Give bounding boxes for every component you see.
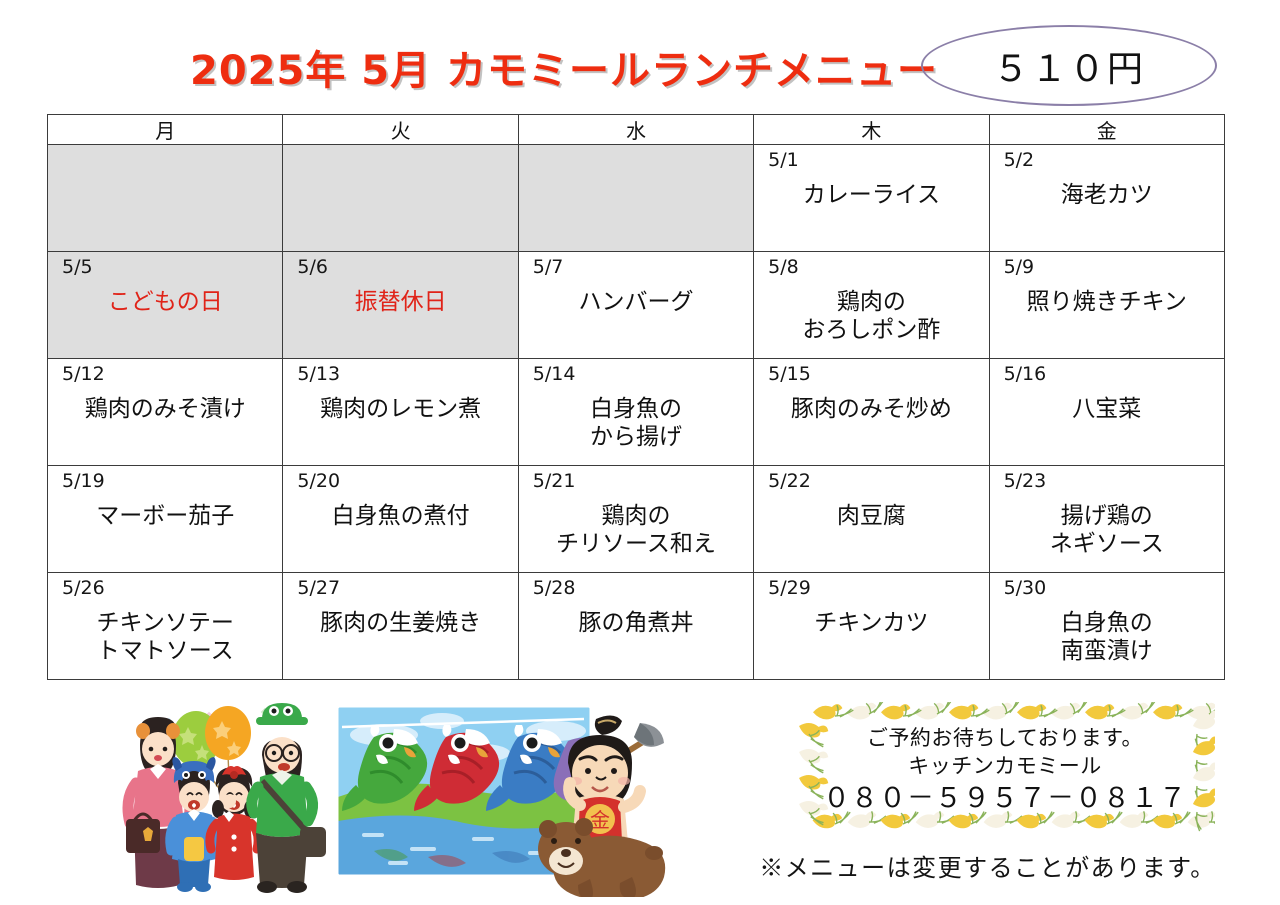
menu-change-disclaimer: ※メニューは変更することがあります。: [740, 848, 1235, 883]
cell-dish-name: マーボー茄子: [48, 492, 282, 530]
cell-date: 5/26: [48, 573, 282, 599]
cell-date: 5/15: [754, 359, 988, 385]
cell-dish-name: 豚の角煮丼: [519, 599, 753, 637]
menu-calendar-table: 月 火 水 木 金 5/1カレーライス5/2海老カツ5/5こどもの日5/6振替休…: [47, 114, 1225, 680]
menu-cell: 5/2海老カツ: [989, 145, 1224, 252]
cell-dish-name: 鶏肉のみそ漬け: [48, 385, 282, 423]
cell-dish-name: 鶏肉の おろしポン酢: [754, 278, 988, 344]
menu-cell: 5/13鶏肉のレモン煮: [283, 359, 518, 466]
cell-dish-name: 鶏肉の チリソース和え: [519, 492, 753, 558]
menu-cell: 5/22肉豆腐: [754, 466, 989, 573]
cell-dish-name: チキンカツ: [754, 599, 988, 637]
cell-dish-name: 豚肉の生姜焼き: [283, 599, 517, 637]
menu-cell-empty: [48, 145, 283, 252]
menu-cell: 5/8鶏肉の おろしポン酢: [754, 252, 989, 359]
menu-cell-empty: [518, 145, 753, 252]
reservation-notice-text: ご予約お待ちしております。 キッチンカモミール ０８０－５９５７－０８１７: [795, 724, 1215, 816]
menu-cell: 5/1カレーライス: [754, 145, 989, 252]
table-row: 5/12鶏肉のみそ漬け5/13鶏肉のレモン煮5/14白身魚の から揚げ5/15豚…: [48, 359, 1225, 466]
weekday-header-thu: 木: [754, 115, 989, 145]
weekday-header-wed: 水: [518, 115, 753, 145]
menu-cell: 5/21鶏肉の チリソース和え: [518, 466, 753, 573]
cell-date: 5/14: [519, 359, 753, 385]
cell-date: 5/21: [519, 466, 753, 492]
menu-cell: 5/15豚肉のみそ炒め: [754, 359, 989, 466]
menu-cell: 5/29チキンカツ: [754, 573, 989, 680]
cell-dish-name: 照り焼きチキン: [990, 278, 1224, 316]
cell-dish-name: チキンソテー トマトソース: [48, 599, 282, 665]
price-badge-label: ５１０円: [993, 40, 1145, 92]
cell-dish-name: 白身魚の から揚げ: [519, 385, 753, 451]
cell-date: 5/5: [48, 252, 282, 278]
weekday-header-fri: 金: [989, 115, 1224, 145]
menu-cell: 5/14白身魚の から揚げ: [518, 359, 753, 466]
cell-date: 5/23: [990, 466, 1224, 492]
cell-date: 5/7: [519, 252, 753, 278]
menu-cell: 5/23揚げ鶏の ネギソース: [989, 466, 1224, 573]
cell-date: 5/6: [283, 252, 517, 278]
page-title: 2025年 5月 カモミールランチメニュー: [190, 38, 850, 96]
cell-dish-name: [283, 150, 517, 160]
cell-date: 5/19: [48, 466, 282, 492]
cell-date: 5/12: [48, 359, 282, 385]
menu-cell: 5/12鶏肉のみそ漬け: [48, 359, 283, 466]
menu-cell: 5/9照り焼きチキン: [989, 252, 1224, 359]
koinobori-illustration: 金: [332, 701, 672, 897]
menu-cell: 5/27豚肉の生姜焼き: [283, 573, 518, 680]
family-illustration: [110, 697, 350, 897]
menu-cell: 5/19マーボー茄子: [48, 466, 283, 573]
cell-date: 5/16: [990, 359, 1224, 385]
notice-line-1: ご予約お待ちしております。: [795, 724, 1215, 752]
weekday-header-tue: 火: [283, 115, 518, 145]
cell-date: 5/1: [754, 145, 988, 171]
menu-cell: 5/30白身魚の 南蛮漬け: [989, 573, 1224, 680]
cell-dish-name: 白身魚の煮付: [283, 492, 517, 530]
cell-holiday-label: こどもの日: [48, 278, 282, 316]
menu-cell: 5/26チキンソテー トマトソース: [48, 573, 283, 680]
menu-cell-empty: [283, 145, 518, 252]
table-row: 5/26チキンソテー トマトソース5/27豚肉の生姜焼き5/28豚の角煮丼5/2…: [48, 573, 1225, 680]
notice-line-2: キッチンカモミール: [795, 752, 1215, 780]
svg-text:金: 金: [590, 808, 610, 832]
notice-phone-number: ０８０－５９５７－０８１７: [795, 781, 1215, 816]
cell-date: 5/20: [283, 466, 517, 492]
cell-date: 5/13: [283, 359, 517, 385]
weekday-header-mon: 月: [48, 115, 283, 145]
menu-cell: 5/20白身魚の煮付: [283, 466, 518, 573]
cell-date: 5/22: [754, 466, 988, 492]
table-row: 5/5こどもの日5/6振替休日5/7ハンバーグ5/8鶏肉の おろしポン酢5/9照…: [48, 252, 1225, 359]
table-header: 月 火 水 木 金: [48, 115, 1225, 145]
cell-dish-name: 鶏肉のレモン煮: [283, 385, 517, 423]
cell-holiday-label: 振替休日: [283, 278, 517, 316]
menu-cell: 5/16八宝菜: [989, 359, 1224, 466]
cell-date: 5/29: [754, 573, 988, 599]
reservation-notice-box: ご予約お待ちしております。 キッチンカモミール ０８０－５９５７－０８１７: [795, 702, 1215, 834]
cell-date: 5/28: [519, 573, 753, 599]
illustration-group: 金: [110, 697, 670, 897]
cell-dish-name: 白身魚の 南蛮漬け: [990, 599, 1224, 665]
menu-page: 2025年 5月 カモミールランチメニュー ５１０円 月 火 水 木 金 5/1…: [0, 0, 1280, 905]
weekday-header-row: 月 火 水 木 金: [48, 115, 1225, 145]
cell-date: 5/30: [990, 573, 1224, 599]
cell-dish-name: [48, 150, 282, 160]
cell-dish-name: 揚げ鶏の ネギソース: [990, 492, 1224, 558]
cell-date: 5/2: [990, 145, 1224, 171]
cell-dish-name: 豚肉のみそ炒め: [754, 385, 988, 423]
cell-dish-name: 八宝菜: [990, 385, 1224, 423]
cell-dish-name: [519, 150, 753, 160]
menu-cell: 5/28豚の角煮丼: [518, 573, 753, 680]
menu-cell: 5/7ハンバーグ: [518, 252, 753, 359]
table-row: 5/1カレーライス5/2海老カツ: [48, 145, 1225, 252]
table-row: 5/19マーボー茄子5/20白身魚の煮付5/21鶏肉の チリソース和え5/22肉…: [48, 466, 1225, 573]
cell-dish-name: カレーライス: [754, 171, 988, 209]
cell-date: 5/27: [283, 573, 517, 599]
cell-dish-name: ハンバーグ: [519, 278, 753, 316]
cell-date: 5/9: [990, 252, 1224, 278]
price-badge: ５１０円: [921, 25, 1217, 106]
menu-cell-holiday: 5/5こどもの日: [48, 252, 283, 359]
cell-dish-name: 肉豆腐: [754, 492, 988, 530]
cell-date: 5/8: [754, 252, 988, 278]
table-body: 5/1カレーライス5/2海老カツ5/5こどもの日5/6振替休日5/7ハンバーグ5…: [48, 145, 1225, 680]
cell-dish-name: 海老カツ: [990, 171, 1224, 209]
menu-cell-holiday: 5/6振替休日: [283, 252, 518, 359]
